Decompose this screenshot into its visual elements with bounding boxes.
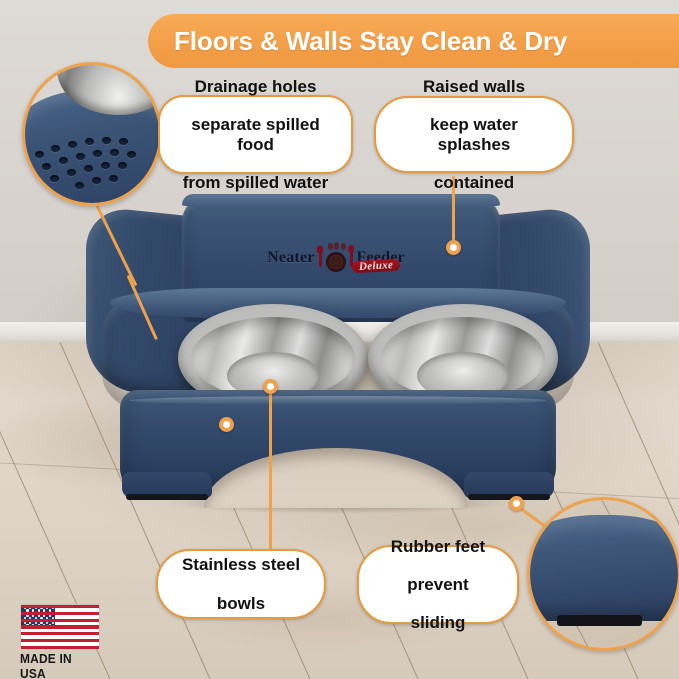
callout-line: prevent: [381, 575, 495, 594]
flag-stripe: [21, 619, 99, 622]
made-in-usa-label: MADE IN USA: [20, 651, 101, 679]
paw-toe: [334, 242, 339, 250]
callout-walls-text: Raised walls keep water splashes contain…: [376, 77, 572, 191]
flag-star: [29, 622, 31, 624]
drain-hole: [42, 163, 51, 170]
drain-hole: [92, 177, 101, 184]
flag-stripe: [21, 605, 99, 608]
fork-icon: [319, 248, 322, 267]
drain-hole: [118, 162, 127, 169]
flag-stripe: [21, 632, 99, 635]
neater-feeder-product: Neater Feeder Deluxe: [86, 196, 590, 516]
flag-stripe: [21, 646, 99, 649]
pointer-dot-tray: [219, 417, 234, 432]
drain-hole: [67, 169, 76, 176]
callout-line: Stainless steel: [172, 555, 310, 574]
logo-word-neater: Neater: [267, 249, 314, 267]
logo-bowl-icon: [326, 252, 346, 272]
flag-stripe: [21, 612, 99, 615]
product-logo: Neater Feeder Deluxe: [246, 240, 426, 276]
drain-hole: [101, 162, 110, 169]
paw-with-utensils-icon: [318, 243, 354, 273]
flag-star: [52, 622, 54, 624]
drain-hole: [119, 138, 128, 145]
rubber-foot-strip-left: [126, 494, 208, 500]
logo-word-deluxe: Deluxe: [352, 259, 401, 274]
callout-line: Rubber feet: [381, 537, 495, 556]
callout-feet-text: Rubber feet prevent sliding: [371, 537, 505, 632]
drain-hole: [93, 150, 102, 157]
drain-hole: [127, 151, 136, 158]
callout-drainage-holes: Drainage holes separate spilled food fro…: [158, 95, 353, 174]
callout-bowls-text: Stainless steel bowls: [162, 555, 320, 612]
drainage-holes-closeup-inset: [22, 62, 162, 206]
inset-rubber-strip: [557, 615, 643, 625]
callout-line: sliding: [381, 613, 495, 632]
drain-hole: [109, 175, 118, 182]
pointer-dot-bowls: [263, 379, 278, 394]
drain-hole: [102, 137, 111, 144]
callout-line: Raised walls: [386, 77, 562, 96]
drain-hole: [51, 145, 60, 152]
drain-hole: [85, 138, 94, 145]
callout-line: Drainage holes: [170, 77, 341, 96]
made-in-usa-badge: MADE IN USA: [20, 604, 108, 679]
callout-line: bowls: [172, 594, 310, 613]
callout-line: from spilled water: [170, 173, 341, 192]
inset-foot-body: [527, 515, 679, 622]
drain-hole: [50, 175, 59, 182]
leader-line-bowls: [269, 386, 272, 551]
rubber-feet-closeup-inset: [527, 497, 679, 651]
drain-hole: [84, 165, 93, 172]
callout-drainage-text: Drainage holes separate spilled food fro…: [160, 77, 351, 191]
header-banner: Floors & Walls Stay Clean & Dry: [148, 14, 679, 68]
drain-hole: [110, 149, 119, 156]
drain-hole: [75, 182, 84, 189]
infographic-canvas: Neater Feeder Deluxe: [0, 0, 679, 679]
callout-line: keep water splashes: [386, 115, 562, 153]
flag-stripe: [21, 625, 99, 628]
flag-star: [35, 622, 37, 624]
pointer-dot-feet: [509, 496, 524, 511]
callout-raised-walls: Raised walls keep water splashes contain…: [374, 96, 574, 173]
callout-line: contained: [386, 173, 562, 192]
callout-rubber-feet: Rubber feet prevent sliding: [357, 545, 519, 624]
paw-toe: [328, 243, 333, 250]
pointer-dot-walls: [446, 240, 461, 255]
drain-hole: [35, 151, 44, 158]
paw-toe: [341, 243, 346, 250]
us-flag-icon: [20, 604, 100, 648]
drain-hole: [59, 157, 68, 164]
product-base-seam: [130, 396, 546, 405]
drain-hole: [68, 141, 77, 148]
flag-star: [46, 622, 48, 624]
callout-line: separate spilled food: [170, 115, 341, 153]
header-banner-text: Floors & Walls Stay Clean & Dry: [174, 26, 567, 57]
flag-stripe: [21, 639, 99, 642]
drain-hole: [76, 153, 85, 160]
callout-stainless-bowls: Stainless steel bowls: [156, 549, 326, 619]
